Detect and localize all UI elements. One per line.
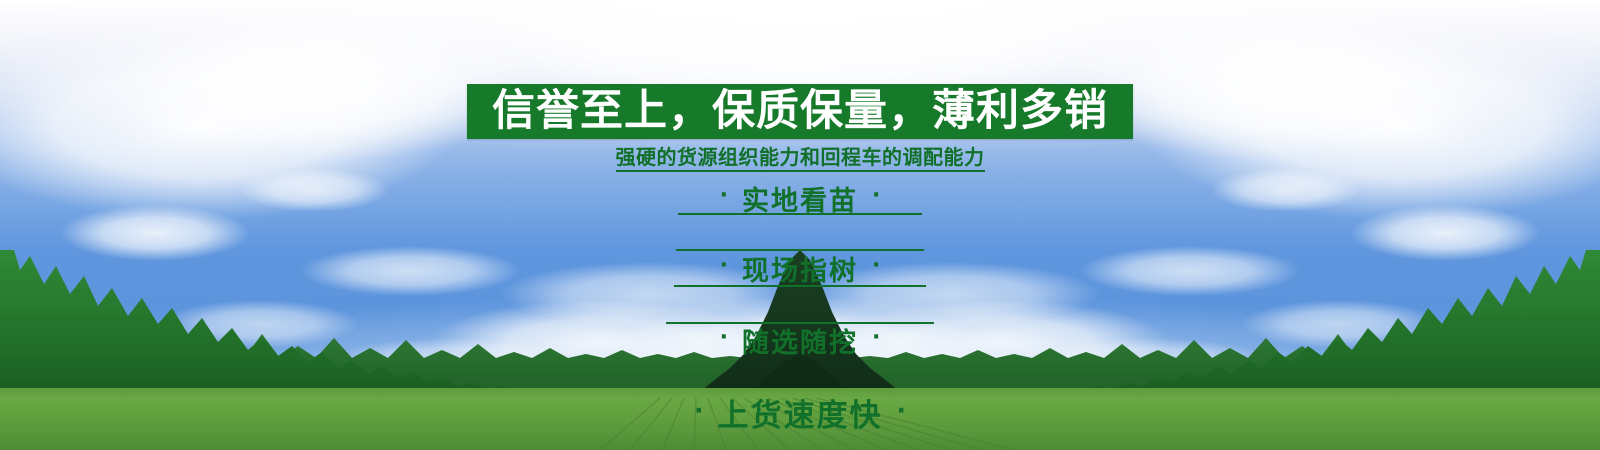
bullet-dot-icon: ·: [694, 398, 704, 423]
list-item: · 实地看苗 ·: [590, 180, 1010, 216]
bullet-dot-icon: ·: [720, 185, 728, 207]
headline-band: 信誉至上，保质保量，薄利多销: [467, 84, 1133, 139]
subtitle-wrapper: 强硬的货源组织能力和回程车的调配能力: [440, 146, 1160, 172]
list-separator: [666, 322, 934, 324]
feature-label: 上货速度快: [718, 390, 883, 435]
bullet-dot-icon: ·: [872, 255, 880, 277]
list-separator: [676, 249, 924, 251]
bullet-dot-icon: ·: [872, 185, 880, 207]
list-item: · 现场指树 ·: [590, 250, 1010, 286]
bullet-dot-icon: ·: [897, 398, 907, 423]
bullet-dot-icon: ·: [872, 327, 880, 349]
subtitle-text: 强硬的货源组织能力和回程车的调配能力: [616, 146, 985, 172]
feature-label: 实地看苗: [742, 179, 858, 218]
list-item: · 上货速度快 ·: [590, 394, 1010, 430]
bullet-dot-icon: ·: [720, 327, 728, 349]
list-separator: [678, 213, 922, 215]
feature-list: · 实地看苗 · · 现场指树 · · 随选随挖 · · 上货速度快 ·: [590, 180, 1010, 360]
page-title: 信誉至上，保质保量，薄利多销: [492, 90, 1108, 133]
list-item: · 随选随挖 ·: [590, 322, 1010, 358]
bullet-dot-icon: ·: [720, 255, 728, 277]
promo-banner: 信誉至上，保质保量，薄利多销 强硬的货源组织能力和回程车的调配能力 · 实地看苗…: [0, 0, 1600, 450]
feature-label: 随选随挖: [742, 321, 858, 360]
list-separator: [674, 285, 926, 287]
feature-label: 现场指树: [742, 249, 858, 288]
